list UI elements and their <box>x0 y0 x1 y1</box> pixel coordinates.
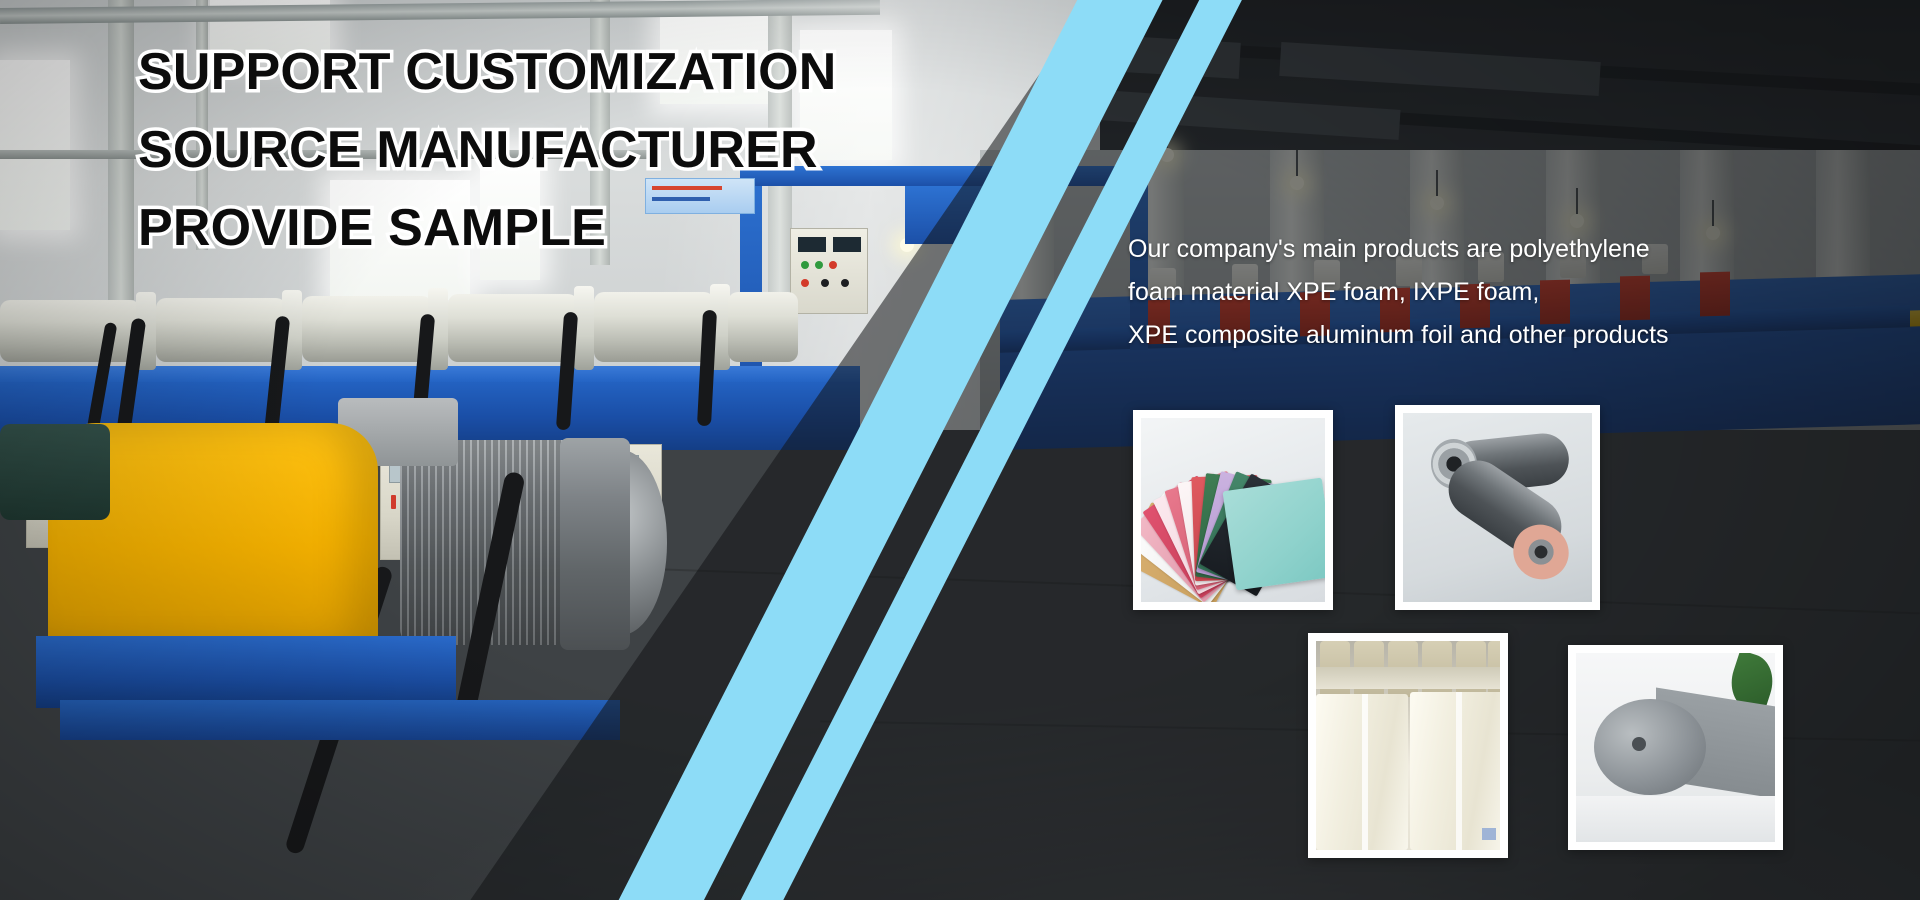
banner-headline: SUPPORT CUSTOMIZATION SOURCE MANUFACTURE… <box>138 46 837 254</box>
product-thumbnail-colored-foam-sheets[interactable] <box>1133 410 1333 610</box>
product-thumbnail-packed-foam-rolls[interactable] <box>1308 633 1508 858</box>
description-line-3: XPE composite aluminum foil and other pr… <box>1128 314 1669 357</box>
description-line-1: Our company's main products are polyethy… <box>1128 228 1669 271</box>
xpe-composite-aluminum-foil-roll-image <box>1403 413 1592 602</box>
colored-xpe-foam-sheets-image <box>1141 418 1325 602</box>
grey-foam-roll-image <box>1576 653 1775 842</box>
product-thumbnail-grey-foam-roll[interactable] <box>1568 645 1783 850</box>
promo-banner: SUPPORT CUSTOMIZATION SOURCE MANUFACTURE… <box>0 0 1920 900</box>
description-line-2: foam material XPE foam, IXPE foam, <box>1128 271 1669 314</box>
packed-white-foam-rolls-image <box>1316 641 1500 850</box>
product-thumbnail-aluminum-foil-roll[interactable] <box>1395 405 1600 610</box>
headline-line-3: PROVIDE SAMPLE <box>138 202 837 254</box>
headline-line-2: SOURCE MANUFACTURER <box>138 124 837 176</box>
headline-line-1: SUPPORT CUSTOMIZATION <box>138 46 837 98</box>
banner-description: Our company's main products are polyethy… <box>1128 228 1669 357</box>
